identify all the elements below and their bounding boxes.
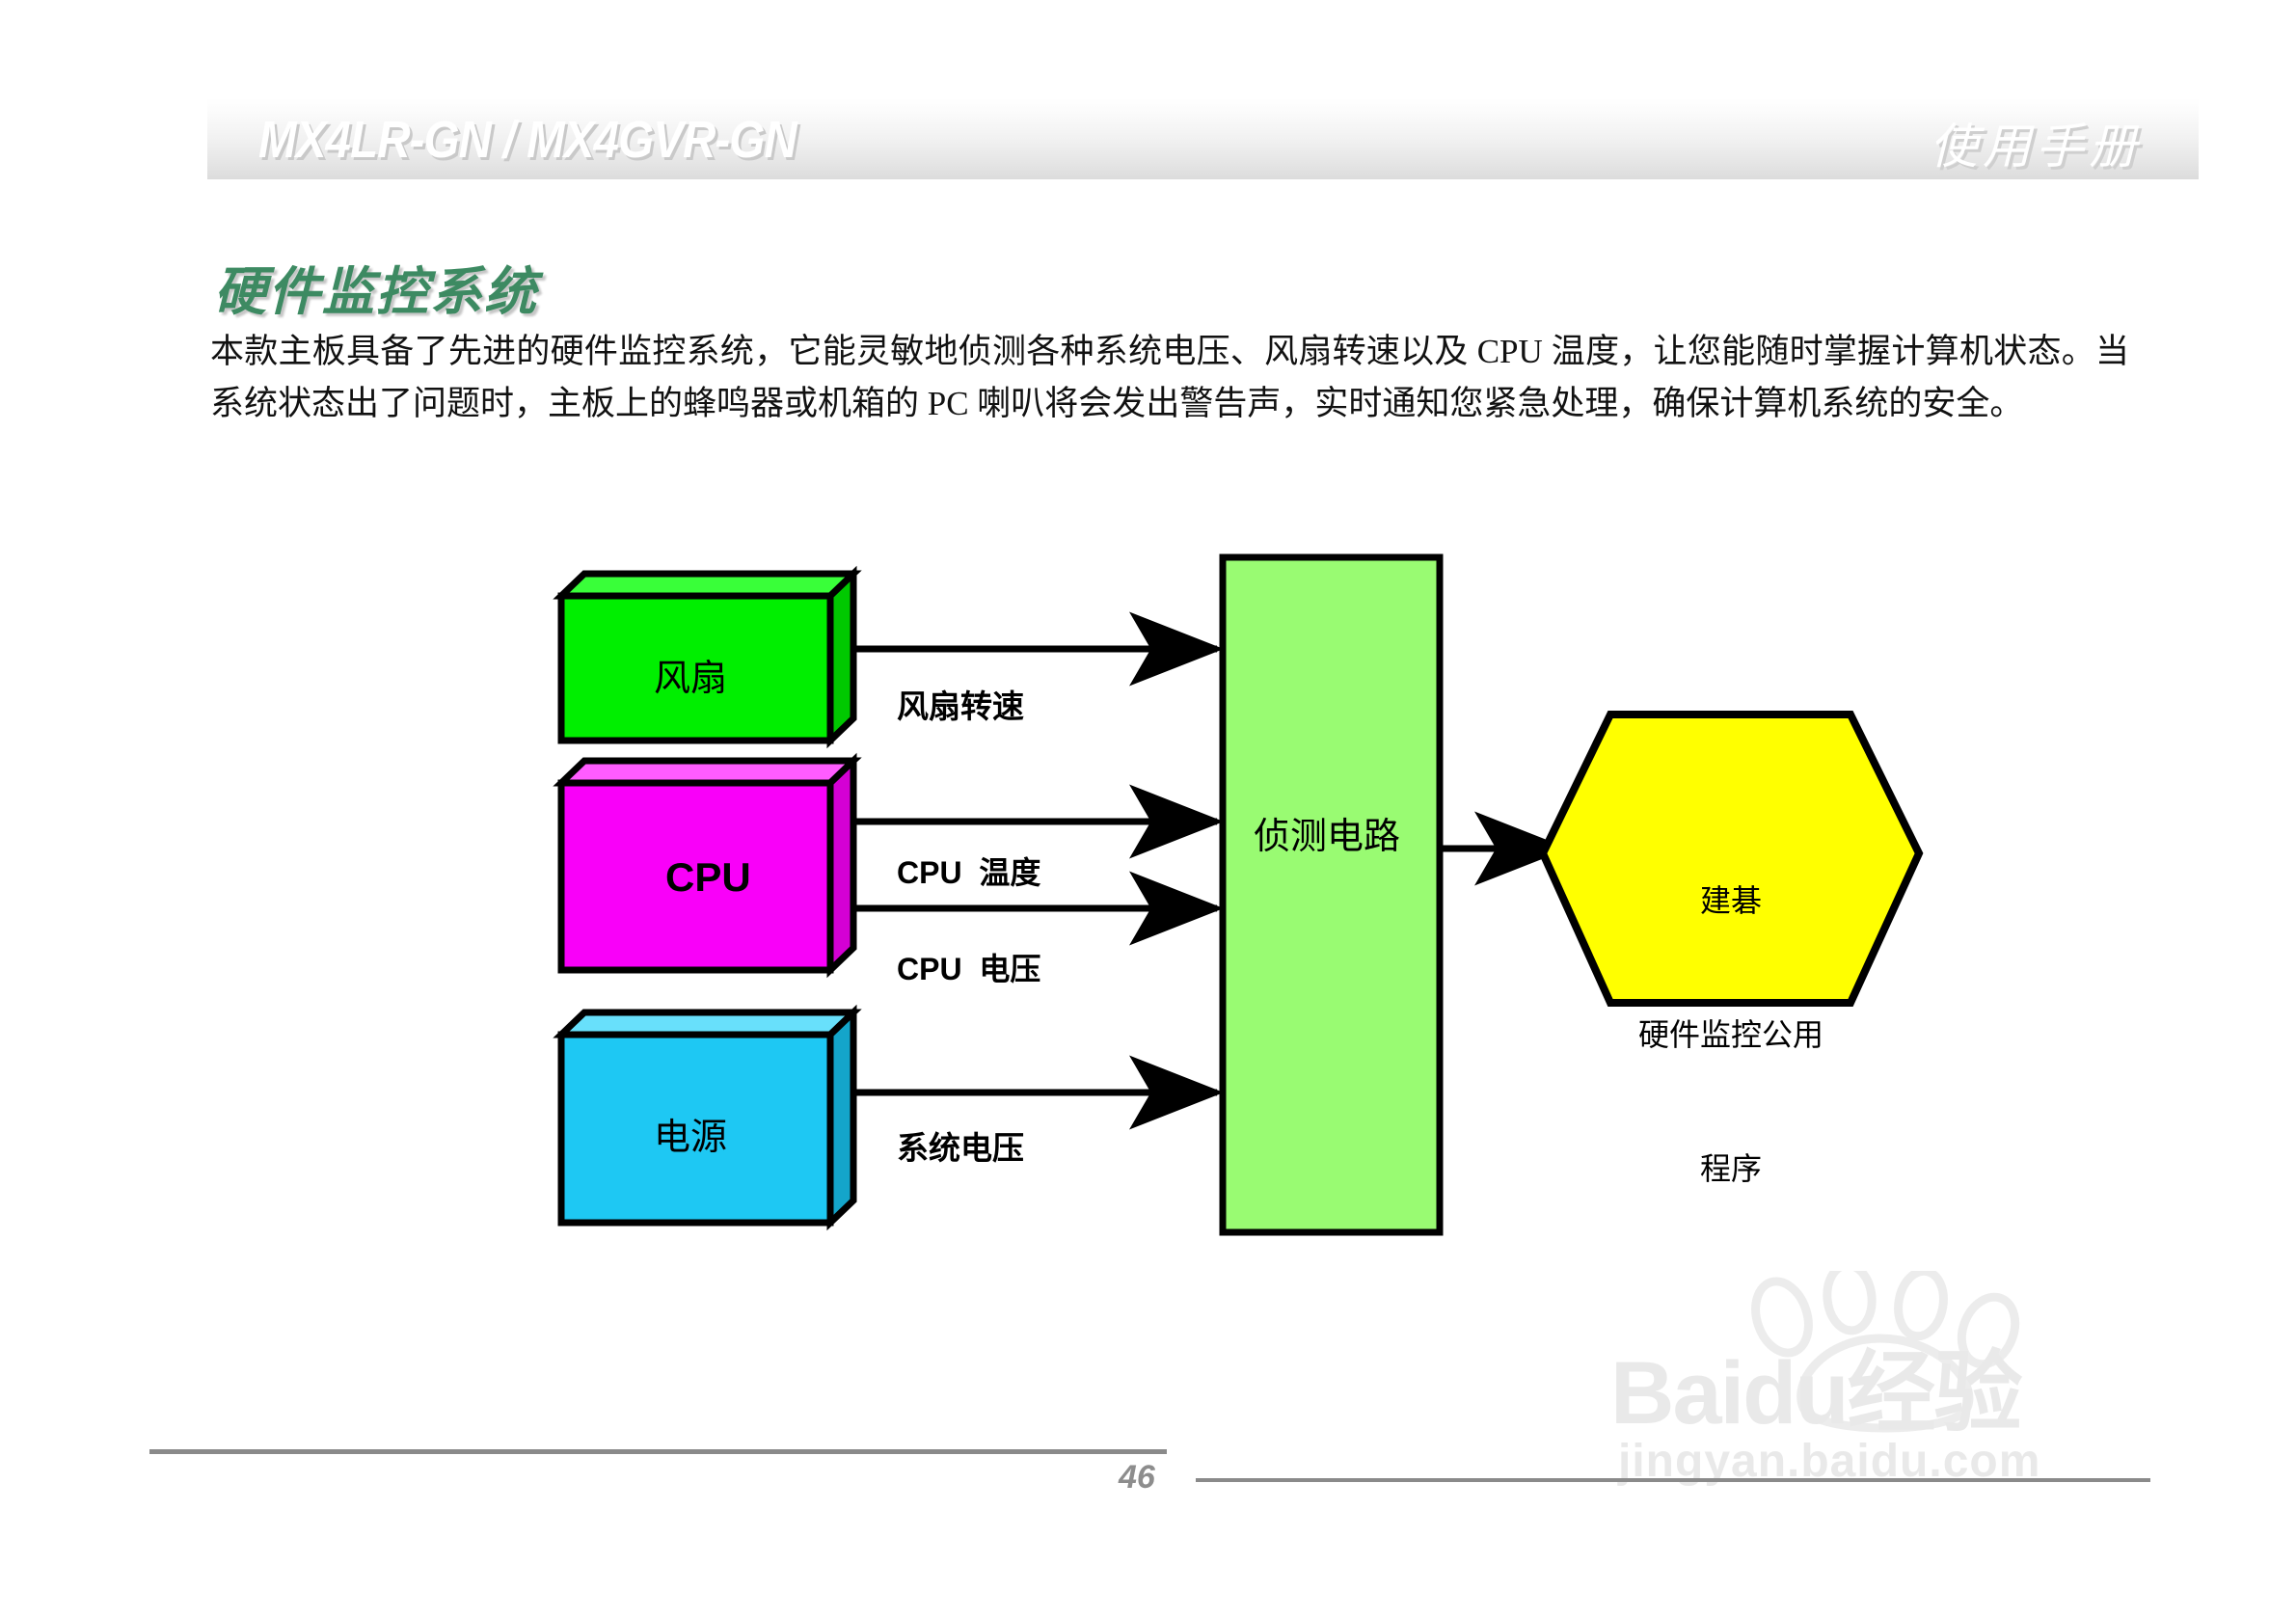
signal-label-fan-speed: 风扇转速 <box>897 681 1024 727</box>
fan-box-label: 风扇 <box>654 648 727 701</box>
cpu-box-label: CPU <box>665 854 751 901</box>
section-paragraph: 本款主板具备了先进的硬件监控系统，它能灵敏地侦测各种系统电压、风扇转速以及 CP… <box>210 326 2129 431</box>
power-box-label: 电源 <box>654 1107 727 1160</box>
utility-label-line1: 建碁 <box>1596 878 1866 923</box>
paw-icon <box>1736 1271 2054 1435</box>
baidu-jingyan-watermark: Baidu经验 jingyan.baidu.com <box>1591 1263 2266 1552</box>
detect-circuit-shape <box>1223 557 1440 1232</box>
signal-label-cpu-voltage: CPU 电压 <box>897 945 1040 989</box>
footer-rule-right <box>1196 1478 2150 1482</box>
footer-rule-left <box>149 1449 1167 1454</box>
signal-label-cpu-temp: CPU 温度 <box>897 849 1040 893</box>
utility-label-line2: 硬件监控公用 <box>1596 1012 1866 1057</box>
section-heading: 硬件监控系统 <box>214 249 538 325</box>
page-number: 46 <box>1119 1459 1155 1497</box>
signal-label-sys-voltage: 系统电压 <box>897 1122 1024 1169</box>
hardware-monitoring-diagram <box>0 0 2296 1618</box>
utility-label-line3: 程序 <box>1596 1146 1866 1191</box>
watermark-brand: Baidu经验 <box>1610 1321 2021 1449</box>
page-title: MX4LR-GN / MX4GVR-GN <box>258 110 797 170</box>
manual-label: 使用手册 <box>1930 108 2142 177</box>
detect-circuit-label: 侦测电路 <box>1254 806 1400 859</box>
utility-label: 建碁 硬件监控公用 程序 <box>1596 789 1866 1236</box>
